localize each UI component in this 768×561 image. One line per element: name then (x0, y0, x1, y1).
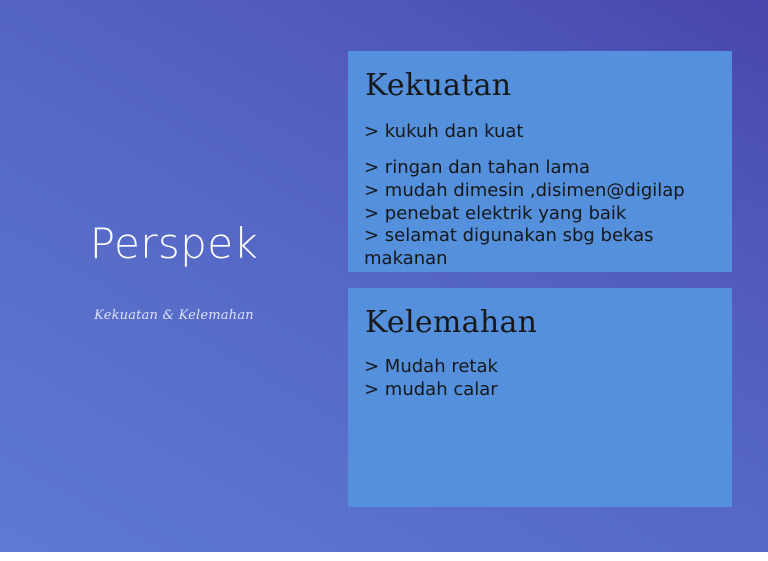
title-block: Perspek Kekuatan & Kelemahan (0, 222, 348, 324)
list-item: > mudah calar (364, 379, 718, 402)
panel-strengths-list: > kukuh dan kuat > ringan dan tahan lama… (348, 101, 732, 271)
page-subtitle: Kekuatan & Kelemahan (0, 308, 348, 324)
panel-weaknesses-list: > Mudah retak > mudah calar (348, 338, 732, 402)
list-item: > mudah dimesin ,disimen@digilap (364, 180, 718, 203)
page-title: Perspek (0, 222, 348, 266)
list-item: > penebat elektrik yang baik (364, 203, 718, 226)
list-item: > Mudah retak (364, 356, 718, 379)
slide: Perspek Kekuatan & Kelemahan Kekuatan > … (0, 0, 768, 561)
panel-weaknesses-heading: Kelemahan (348, 288, 732, 338)
panel-strengths-heading: Kekuatan (348, 51, 732, 101)
list-item: > kukuh dan kuat (364, 121, 718, 144)
panel-strengths: Kekuatan > kukuh dan kuat > ringan dan t… (348, 51, 732, 272)
list-item: > ringan dan tahan lama (364, 157, 718, 180)
bottom-strip (0, 552, 768, 561)
list-item: > selamat digunakan sbg bekas makanan (364, 225, 718, 271)
panel-weaknesses: Kelemahan > Mudah retak > mudah calar (348, 288, 732, 507)
